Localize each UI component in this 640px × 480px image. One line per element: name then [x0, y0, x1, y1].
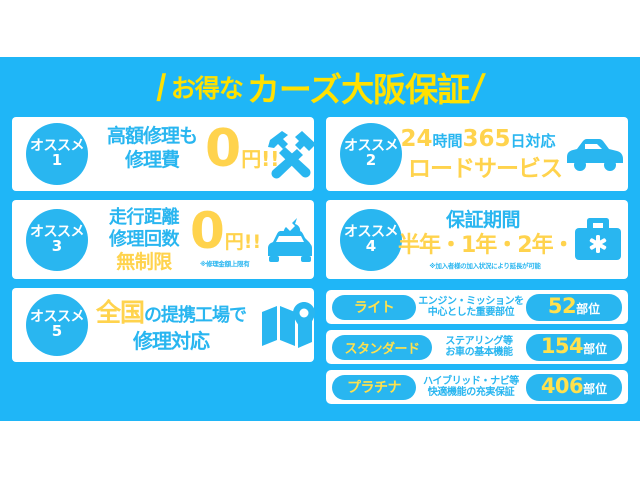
plan-row-standard[interactable]: スタンダード ステアリング等 お車の基本機能 154 部位: [326, 330, 628, 364]
card-2-hours-unit: 時間: [432, 133, 462, 150]
plan-coverage-badge: 52 部位: [526, 294, 622, 321]
recommendation-badge-5: オススメ 5: [26, 294, 88, 356]
plan-coverage-unit: 部位: [583, 340, 607, 357]
plan-coverage-badge: 406 部位: [526, 374, 622, 401]
slash-left-decoration: \: [154, 70, 170, 104]
plan-description-line-2: お車の基本機能: [432, 347, 526, 359]
card-3-line-1: 走行距離: [98, 208, 190, 228]
recommendation-badge-3: オススメ 3: [26, 209, 88, 271]
plan-coverage-unit: 部位: [583, 380, 607, 397]
card-2-line-2: ロードサービス: [408, 157, 548, 183]
plan-coverage-count: 406: [541, 374, 583, 398]
car-side-icon: [563, 137, 625, 173]
card-5-highlight: 全国: [96, 299, 144, 327]
plan-description-line-1: エンジン・ミッションを: [416, 296, 526, 308]
plan-description: エンジン・ミッションを 中心とした重要部位: [416, 296, 526, 319]
card-4-text-block: 保証期間 半年・1年・2年・3年: [398, 210, 568, 259]
badge-number: 1: [52, 153, 62, 169]
plan-name-badge: プラチナ: [332, 375, 416, 400]
hammer-tools-icon: [264, 127, 320, 181]
plan-row-platinum[interactable]: プラチナ ハイブリッド・ナビ等 快適機能の充実保証 406 部位: [326, 370, 628, 404]
medical-case-icon: [571, 214, 625, 264]
plan-coverage-count: 52: [548, 294, 576, 318]
plan-coverage-unit: 部位: [576, 300, 600, 317]
card-5-line-1-rest: の提携工場で: [144, 306, 246, 326]
card-3-line-3: 無制限: [98, 252, 190, 273]
plan-name-badge: スタンダード: [332, 335, 432, 360]
plan-description: ステアリング等 お車の基本機能: [432, 336, 526, 359]
plan-name-badge: ライト: [332, 295, 416, 320]
badge-number: 2: [366, 153, 376, 169]
plan-name-label: ライト: [354, 297, 395, 317]
card-3-price-value: 0: [190, 206, 225, 256]
card-4-title: 保証期間: [398, 210, 568, 231]
recommendation-badge-2: オススメ 2: [340, 123, 402, 185]
feature-card-2: オススメ 2 24 時間 365 日対応 ロードサービス: [326, 117, 628, 191]
plan-name-label: プラチナ: [347, 377, 401, 397]
slash-right-decoration: /: [470, 70, 486, 104]
recommendation-badge-1: オススメ 1: [26, 123, 88, 185]
plan-coverage-badge: 154 部位: [526, 334, 622, 361]
card-5-line-2: 修理対応: [96, 330, 246, 352]
card-1-line-2: 修理費: [97, 150, 207, 171]
page-title-main: カーズ大阪保証: [246, 63, 470, 111]
car-wrench-icon: [259, 216, 315, 264]
plan-description-line-1: ステアリング等: [432, 336, 526, 348]
badge-number: 5: [52, 324, 62, 340]
card-3-price-unit: 円!!: [225, 227, 261, 254]
page-title-prefix: お得な: [170, 69, 244, 105]
feature-card-5: オススメ 5 全国 の提携工場で 修理対応: [12, 288, 314, 362]
card-3-text-block: 走行距離 修理回数 無制限: [98, 208, 190, 274]
badge-number: 3: [52, 239, 62, 255]
map-pin-icon: [260, 300, 318, 350]
feature-card-4: オススメ 4 保証期間 半年・1年・2年・3年 ※加入者様の加入状況により延長が…: [326, 200, 628, 279]
plan-description-line-1: ハイブリッド・ナビ等: [416, 376, 526, 388]
card-2-hours-value: 24: [400, 127, 432, 153]
card-3-line-2: 修理回数: [98, 230, 190, 250]
feature-card-3: オススメ 3 走行距離 修理回数 無制限 0 円!! ※修理金額上限有: [12, 200, 314, 279]
advertisement-banner: \ お得な カーズ大阪保証 / オススメ 1 高額修理も 修理費 0 円!!: [0, 0, 640, 480]
card-2-text-block: 24 時間 365 日対応 ロードサービス: [408, 127, 548, 183]
feature-card-1: オススメ 1 高額修理も 修理費 0 円!!: [12, 117, 314, 191]
plan-row-light[interactable]: ライト エンジン・ミッションを 中心とした重要部位 52 部位: [326, 290, 628, 324]
recommendation-badge-4: オススメ 4: [340, 209, 402, 271]
card-3-note: ※修理金額上限有: [200, 258, 249, 268]
card-1-price-value: 0: [205, 123, 241, 175]
card-1-line-1: 高額修理も: [97, 126, 207, 147]
card-5-line-1: 全国 の提携工場で: [96, 299, 246, 327]
card-1-text-block: 高額修理も 修理費: [97, 126, 207, 172]
card-4-value: 半年・1年・2年・3年: [398, 234, 568, 259]
plan-description-line-2: 中心とした重要部位: [416, 307, 526, 319]
plan-name-label: スタンダード: [344, 338, 419, 357]
plan-description: ハイブリッド・ナビ等 快適機能の充実保証: [416, 376, 526, 399]
card-2-days-value: 365: [463, 127, 511, 153]
card-5-text-block: 全国 の提携工場で 修理対応: [96, 299, 246, 352]
card-2-days-unit: 日対応: [511, 133, 556, 150]
page-title: \ お得な カーズ大阪保証 /: [0, 62, 640, 112]
plan-coverage-count: 154: [541, 334, 583, 358]
badge-number: 4: [366, 239, 376, 255]
card-4-note: ※加入者様の加入状況により延長が可能: [410, 260, 560, 270]
plan-description-line-2: 快適機能の充実保証: [416, 387, 526, 399]
card-3-price: 0 円!!: [190, 206, 261, 256]
card-2-line-1: 24 時間 365 日対応: [408, 127, 548, 153]
